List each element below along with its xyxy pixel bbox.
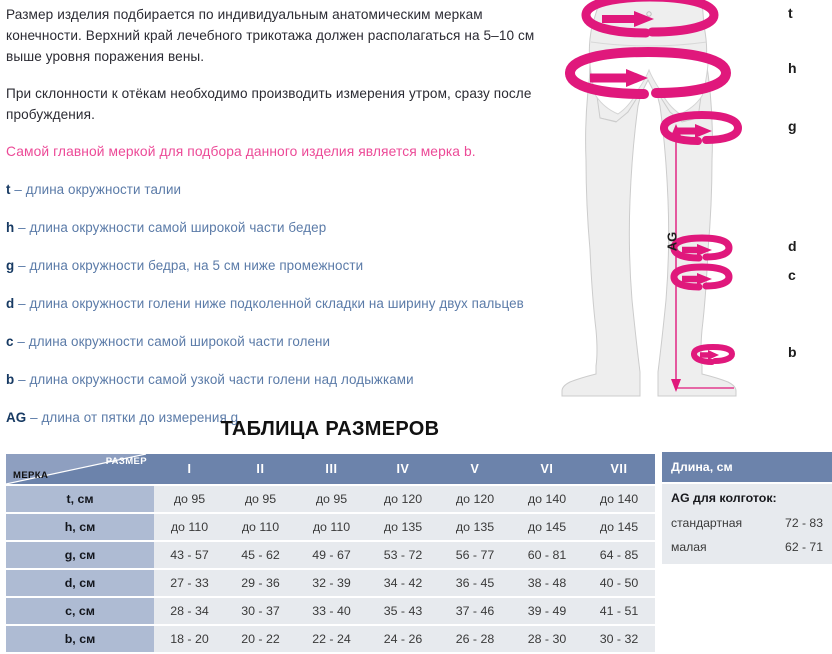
measure-dash-t: – — [14, 182, 22, 197]
cell-b-1: 18 - 20 — [154, 626, 225, 652]
row-label-t: t, см — [6, 486, 154, 512]
measure-key-t: t — [6, 182, 11, 197]
size-table: РАЗМЕР МЕРКА I II III IV V VI VII t, см … — [6, 452, 655, 654]
cell-c-3: 33 - 40 — [296, 598, 367, 624]
cell-c-5: 37 - 46 — [439, 598, 511, 624]
cell-d-5: 36 - 45 — [439, 570, 511, 596]
corner-size-label: РАЗМЕР — [106, 456, 147, 467]
anatomy-diagram: t h g d c b AG — [556, 0, 832, 408]
measure-dash-d: – — [18, 296, 26, 311]
cell-t-4: до 120 — [367, 486, 439, 512]
cell-d-6: 38 - 48 — [511, 570, 583, 596]
size-header-2[interactable]: II — [225, 454, 296, 484]
measure-text-h: длина окружности самой широкой части бед… — [30, 220, 327, 235]
cell-h-3: до 110 — [296, 514, 367, 540]
cell-t-1: до 95 — [154, 486, 225, 512]
cell-b-3: 22 - 24 — [296, 626, 367, 652]
corner-measure-label: МЕРКА — [13, 470, 48, 481]
cell-c-7: 41 - 51 — [583, 598, 655, 624]
highlight-note: Самой главной меркой для подбора данного… — [6, 141, 554, 162]
size-header-1[interactable]: I — [154, 454, 225, 484]
cell-g-7: 64 - 85 — [583, 542, 655, 568]
measure-legend-h: h – длина окружности самой широкой части… — [6, 218, 554, 238]
table-corner-cell: РАЗМЕР МЕРКА — [6, 454, 154, 484]
cell-b-5: 26 - 28 — [439, 626, 511, 652]
length-panel: Длина, см AG для колготок: стандартная 7… — [662, 452, 832, 564]
length-row-small: малая 62 - 71 — [671, 540, 823, 554]
measure-dash-c: – — [17, 334, 25, 349]
cell-h-7: до 145 — [583, 514, 655, 540]
cell-g-1: 43 - 57 — [154, 542, 225, 568]
cell-d-2: 29 - 36 — [225, 570, 296, 596]
diagram-label-d: d — [788, 238, 797, 254]
size-table-header-row: РАЗМЕР МЕРКА I II III IV V VI VII — [6, 454, 655, 484]
length-row-standard: стандартная 72 - 83 — [671, 516, 823, 530]
size-table-wrapper: РАЗМЕР МЕРКА I II III IV V VI VII t, см … — [6, 452, 655, 654]
measure-key-d: d — [6, 296, 14, 311]
cell-h-4: до 135 — [367, 514, 439, 540]
cell-d-3: 32 - 39 — [296, 570, 367, 596]
cell-h-5: до 135 — [439, 514, 511, 540]
intro-paragraph-2: При склонности к отёкам необходимо произ… — [6, 83, 554, 125]
size-table-title: ТАБЛИЦА РАЗМЕРОВ — [0, 418, 660, 441]
length-value-small: 62 - 71 — [785, 540, 823, 554]
measure-key-c: c — [6, 334, 14, 349]
size-header-5[interactable]: V — [439, 454, 511, 484]
text-column: Размер изделия подбирается по индивидуал… — [6, 4, 554, 446]
underwear-shape-icon — [590, 56, 708, 114]
measure-text-b: длина окружности самой узкой части голен… — [30, 372, 414, 387]
cell-t-3: до 95 — [296, 486, 367, 512]
size-header-6[interactable]: VI — [511, 454, 583, 484]
cell-t-2: до 95 — [225, 486, 296, 512]
measure-text-t: длина окружности талии — [26, 182, 181, 197]
table-row: g, см 43 - 57 45 - 62 49 - 67 53 - 72 56… — [6, 542, 655, 568]
row-label-h: h, см — [6, 514, 154, 540]
cell-g-3: 49 - 67 — [296, 542, 367, 568]
cell-h-6: до 145 — [511, 514, 583, 540]
table-row: c, см 28 - 34 30 - 37 33 - 40 35 - 43 37… — [6, 598, 655, 624]
length-panel-subtitle: AG для колготок: — [671, 491, 823, 505]
size-header-4[interactable]: IV — [367, 454, 439, 484]
cell-t-5: до 120 — [439, 486, 511, 512]
length-value-standard: 72 - 83 — [785, 516, 823, 530]
row-label-d: d, см — [6, 570, 154, 596]
cell-h-1: до 110 — [154, 514, 225, 540]
cell-g-2: 45 - 62 — [225, 542, 296, 568]
measure-dash-g: – — [18, 258, 26, 273]
size-table-head: РАЗМЕР МЕРКА I II III IV V VI VII — [6, 454, 655, 484]
row-label-c: c, см — [6, 598, 154, 624]
cell-c-1: 28 - 34 — [154, 598, 225, 624]
length-panel-header: Длина, см — [662, 452, 832, 482]
measure-legend-g: g – длина окружности бедра, на 5 см ниже… — [6, 256, 554, 276]
cell-t-6: до 140 — [511, 486, 583, 512]
length-label-small: малая — [671, 540, 707, 554]
measure-text-g: длина окружности бедра, на 5 см ниже про… — [30, 258, 364, 273]
size-table-body: t, см до 95 до 95 до 95 до 120 до 120 до… — [6, 486, 655, 652]
diagram-label-ag: AG — [664, 232, 679, 252]
size-header-7[interactable]: VII — [583, 454, 655, 484]
diagram-label-h: h — [788, 60, 797, 76]
table-row: b, см 18 - 20 20 - 22 22 - 24 24 - 26 26… — [6, 626, 655, 652]
diagram-label-b: b — [788, 344, 797, 360]
cell-t-7: до 140 — [583, 486, 655, 512]
measure-dash-b: – — [18, 372, 26, 387]
measure-text-c: длина окружности самой широкой части гол… — [29, 334, 330, 349]
cell-d-4: 34 - 42 — [367, 570, 439, 596]
row-label-g: g, см — [6, 542, 154, 568]
length-panel-body: AG для колготок: стандартная 72 - 83 мал… — [662, 484, 832, 564]
cell-h-2: до 110 — [225, 514, 296, 540]
row-label-b: b, см — [6, 626, 154, 652]
cell-b-2: 20 - 22 — [225, 626, 296, 652]
cell-d-7: 40 - 50 — [583, 570, 655, 596]
intro-paragraph-1: Размер изделия подбирается по индивидуал… — [6, 4, 554, 67]
measure-legend-t: t – длина окружности талии — [6, 180, 554, 200]
diagram-label-c: c — [788, 267, 796, 283]
cell-b-4: 24 - 26 — [367, 626, 439, 652]
measure-legend-b: b – длина окружности самой узкой части г… — [6, 370, 554, 390]
cell-c-6: 39 - 49 — [511, 598, 583, 624]
measure-dash-h: – — [18, 220, 26, 235]
cell-g-5: 56 - 77 — [439, 542, 511, 568]
measure-key-g: g — [6, 258, 14, 273]
cell-d-1: 27 - 33 — [154, 570, 225, 596]
measure-key-h: h — [6, 220, 14, 235]
diagram-label-t: t — [788, 5, 793, 21]
cell-c-4: 35 - 43 — [367, 598, 439, 624]
cell-b-7: 30 - 32 — [583, 626, 655, 652]
measure-legend-d: d – длина окружности голени ниже подколе… — [6, 294, 554, 314]
size-guide-page: Размер изделия подбирается по индивидуал… — [0, 0, 832, 652]
measure-key-b: b — [6, 372, 14, 387]
diagram-label-g: g — [788, 118, 797, 134]
table-row: h, см до 110 до 110 до 110 до 135 до 135… — [6, 514, 655, 540]
measure-legend-c: c – длина окружности самой широкой части… — [6, 332, 554, 352]
cell-b-6: 28 - 30 — [511, 626, 583, 652]
table-row: t, см до 95 до 95 до 95 до 120 до 120 до… — [6, 486, 655, 512]
cell-c-2: 30 - 37 — [225, 598, 296, 624]
cell-g-6: 60 - 81 — [511, 542, 583, 568]
top-section: Размер изделия подбирается по индивидуал… — [0, 0, 832, 412]
length-label-standard: стандартная — [671, 516, 742, 530]
measure-text-d: длина окружности голени ниже подколенной… — [30, 296, 524, 311]
cell-g-4: 53 - 72 — [367, 542, 439, 568]
size-header-3[interactable]: III — [296, 454, 367, 484]
table-row: d, см 27 - 33 29 - 36 32 - 39 34 - 42 36… — [6, 570, 655, 596]
